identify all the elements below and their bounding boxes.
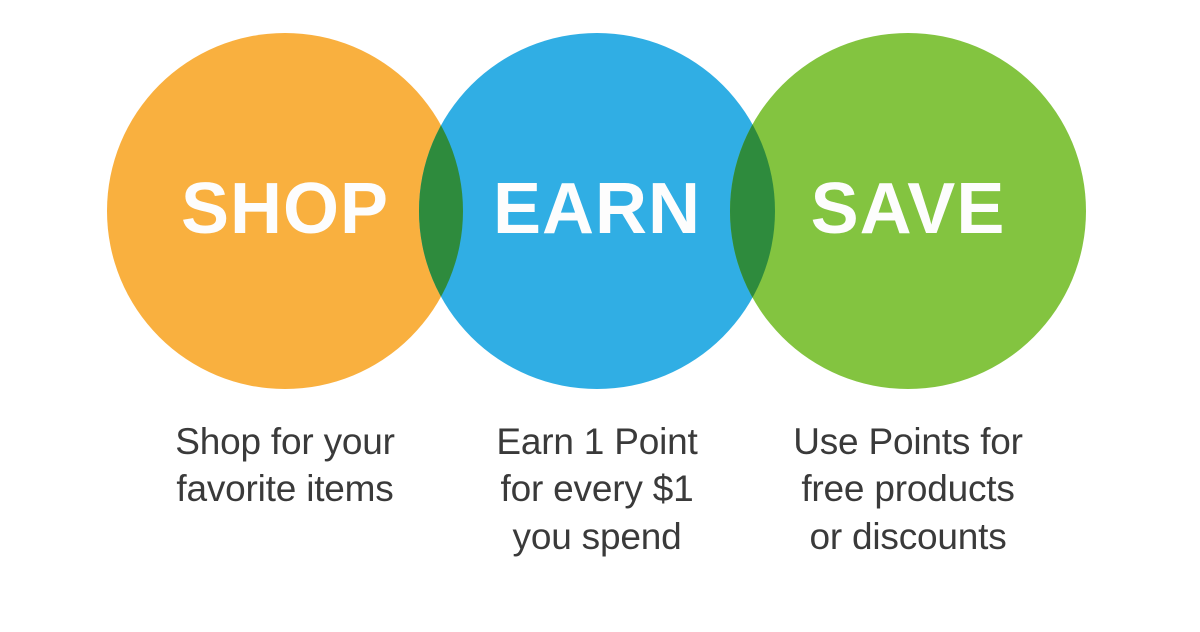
caption-save-line-2: free products [758, 465, 1058, 512]
infographic-canvas: SHOP EARN SAVE Shop for your favorite it… [0, 0, 1200, 632]
caption-save-line-1: Use Points for [758, 418, 1058, 465]
circle-label-shop: SHOP [181, 169, 389, 249]
caption-save: Use Points for free products or discount… [758, 418, 1058, 560]
caption-shop-line-1: Shop for your [135, 418, 435, 465]
caption-earn-line-2: for every $1 [447, 465, 747, 512]
caption-earn-line-3: you spend [447, 513, 747, 560]
caption-earn-line-1: Earn 1 Point [447, 418, 747, 465]
caption-earn: Earn 1 Point for every $1 you spend [447, 418, 747, 560]
caption-shop-line-2: favorite items [135, 465, 435, 512]
circle-label-save: SAVE [811, 169, 1006, 249]
caption-save-line-3: or discounts [758, 513, 1058, 560]
circle-label-earn: EARN [493, 169, 701, 249]
caption-shop: Shop for your favorite items [135, 418, 435, 513]
